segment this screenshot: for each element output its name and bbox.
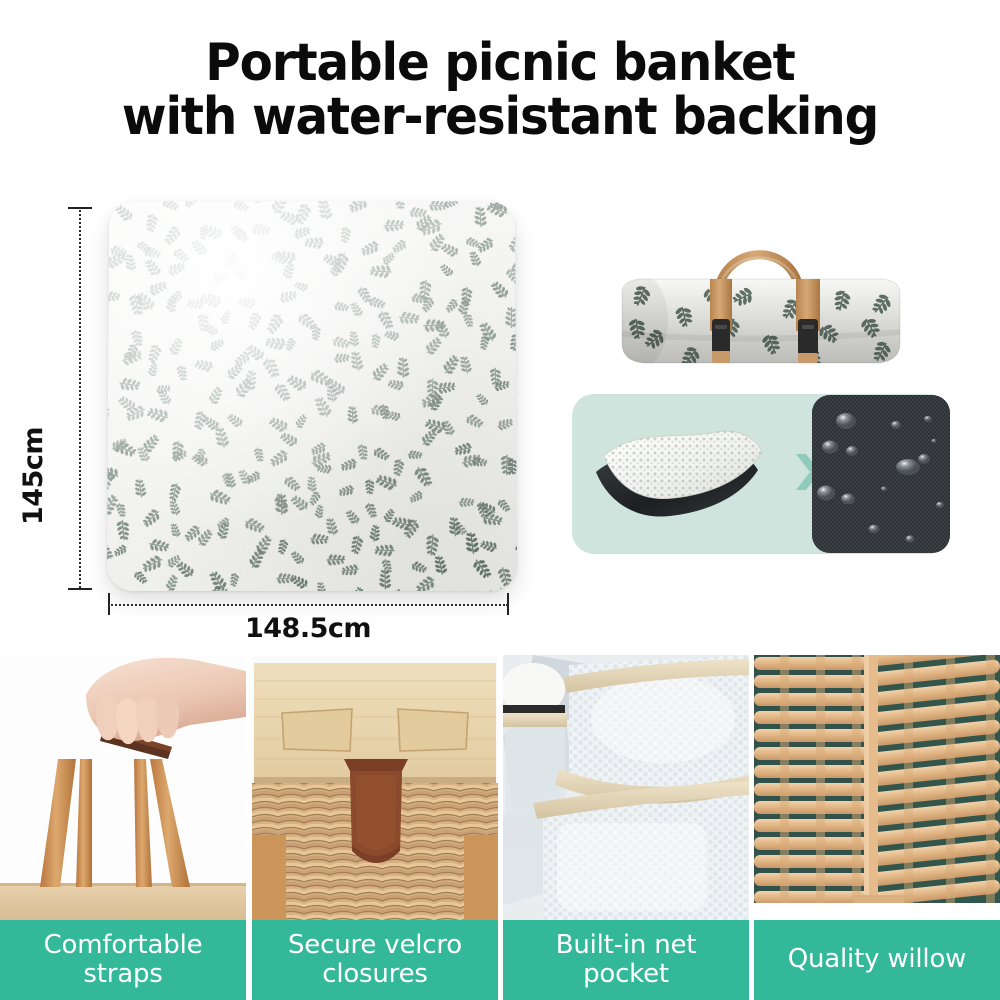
title-line-1: Portable picnic banket bbox=[35, 36, 965, 90]
feature-cell-velcro: Secure velcro closures bbox=[252, 655, 498, 1000]
height-guide-line bbox=[79, 207, 81, 588]
water-resistant-demo-panel bbox=[572, 394, 950, 554]
product-infographic: Portable picnic banket with water-resist… bbox=[0, 0, 1000, 1000]
page-title: Portable picnic banket with water-resist… bbox=[0, 36, 1000, 144]
blanket-image bbox=[108, 200, 516, 590]
feature-photo-strip: Comfortable straps bbox=[0, 655, 1000, 1000]
rolled-blanket-image bbox=[600, 215, 920, 380]
width-dimension-label: 148.5cm bbox=[108, 613, 508, 644]
waterproof-fabric-swatch bbox=[812, 395, 950, 553]
feature-caption-willow: Quality willow bbox=[754, 920, 1000, 1000]
feature-caption-velcro: Secure velcro closures bbox=[252, 920, 498, 1000]
mesh-net-pocket-photo bbox=[503, 655, 749, 920]
leaf-pattern-icon bbox=[107, 201, 517, 591]
wooden-lid-leather-strap-closure-photo bbox=[252, 655, 498, 920]
blanket-surface bbox=[107, 201, 517, 591]
feature-cell-net-pocket: Built-in net pocket bbox=[503, 655, 749, 1000]
fabric-layers-icon bbox=[590, 416, 765, 532]
height-guide-cap-bottom bbox=[68, 588, 92, 590]
height-dimension-label: 145cm bbox=[18, 427, 49, 525]
feature-caption-straps: Comfortable straps bbox=[0, 920, 246, 1000]
title-line-2: with water-resistant backing bbox=[35, 90, 965, 144]
feature-cell-willow: Quality willow bbox=[754, 655, 1000, 1000]
hand-holding-carry-straps-photo bbox=[0, 655, 246, 920]
strap-buckle-right-icon bbox=[796, 279, 820, 363]
feature-cell-straps: Comfortable straps bbox=[0, 655, 246, 1000]
width-guide-line bbox=[108, 604, 508, 606]
feature-caption-net-pocket: Built-in net pocket bbox=[503, 920, 749, 1000]
woven-willow-basket-photo bbox=[754, 655, 1000, 920]
height-guide-cap-top bbox=[68, 207, 92, 209]
strap-buckle-left-icon bbox=[710, 279, 732, 363]
hero-section: 145cm bbox=[0, 170, 1000, 655]
